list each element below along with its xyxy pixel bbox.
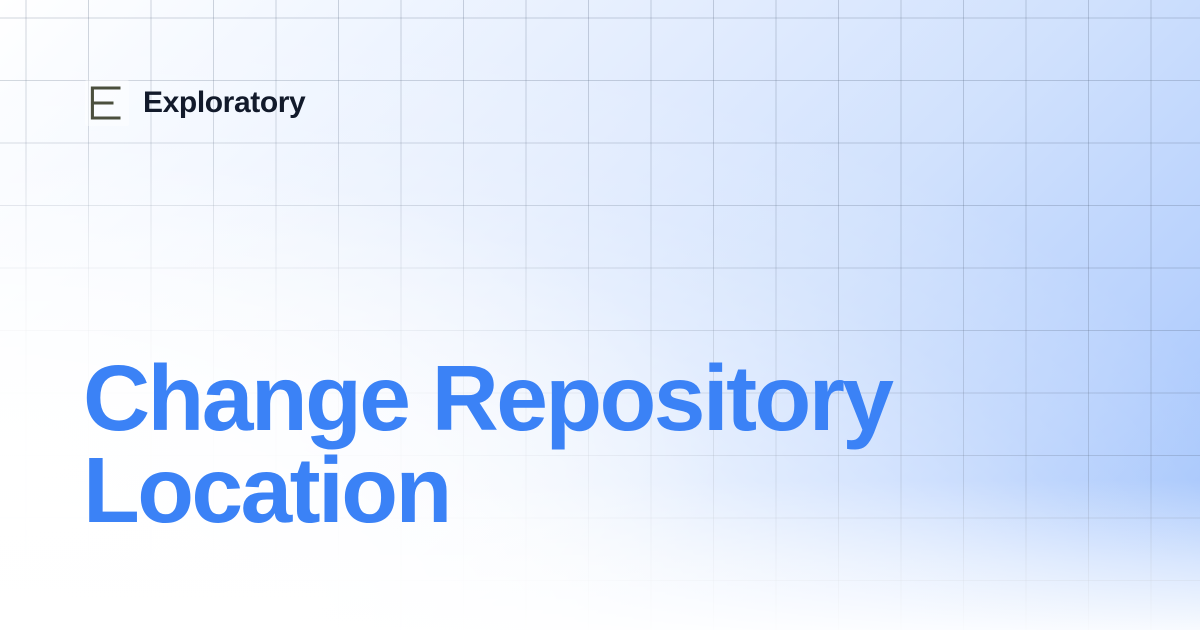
brand-name: Exploratory <box>143 88 305 118</box>
brand-lockup: Exploratory <box>85 80 305 126</box>
og-card: Exploratory Change Repository Location <box>0 0 1200 630</box>
page-title: Change Repository Location <box>83 352 943 536</box>
card-content: Exploratory Change Repository Location <box>0 0 1200 630</box>
exploratory-e-logo-icon <box>85 80 129 126</box>
